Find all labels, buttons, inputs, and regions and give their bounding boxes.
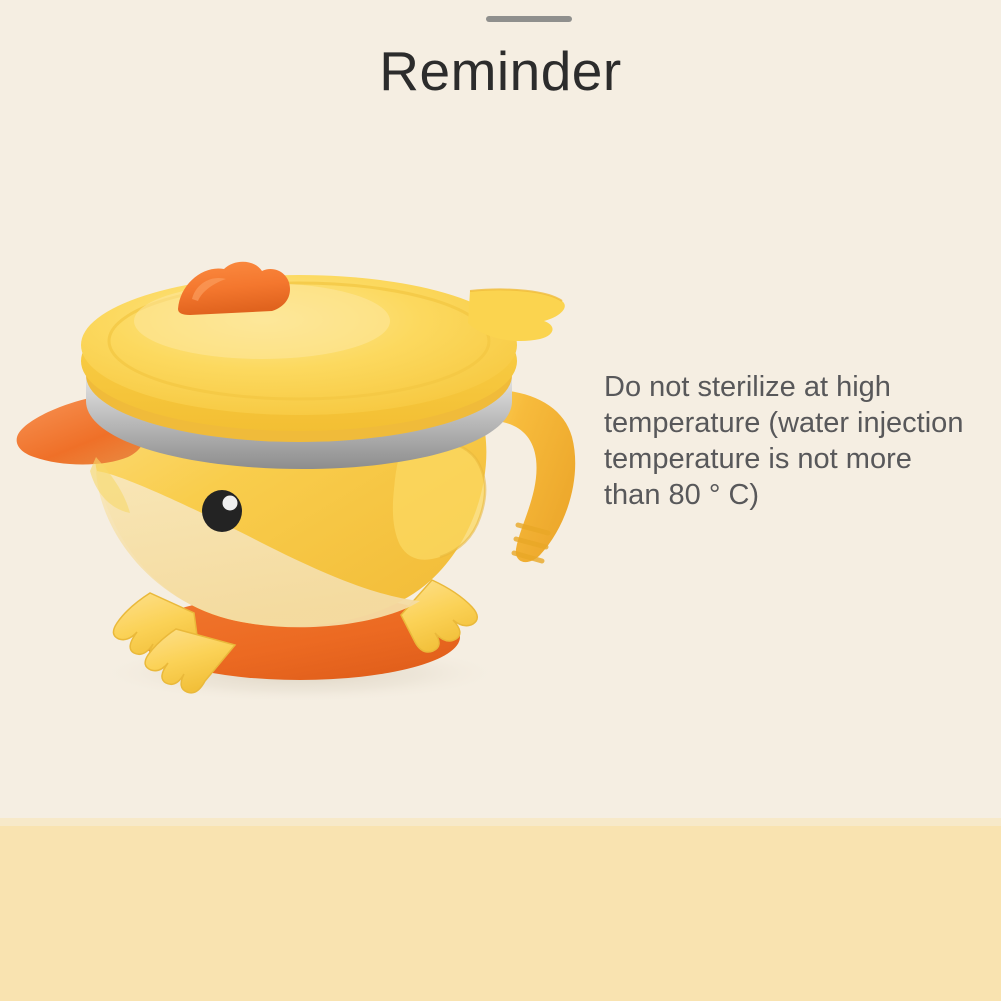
page-title: Reminder — [0, 36, 1001, 106]
product-caption: Do not sterilize at high temperature (wa… — [604, 369, 972, 513]
eye — [202, 490, 242, 532]
comb-knob — [178, 262, 290, 315]
background-band-bottom — [0, 826, 1001, 1001]
title-divider-dash — [486, 16, 572, 22]
chick-bowl-image — [0, 225, 620, 705]
eye-highlight — [223, 496, 238, 511]
background-band-seam — [0, 818, 1001, 826]
product-info-slide: Reminder Do not sterilize at high temper… — [0, 0, 1001, 1001]
